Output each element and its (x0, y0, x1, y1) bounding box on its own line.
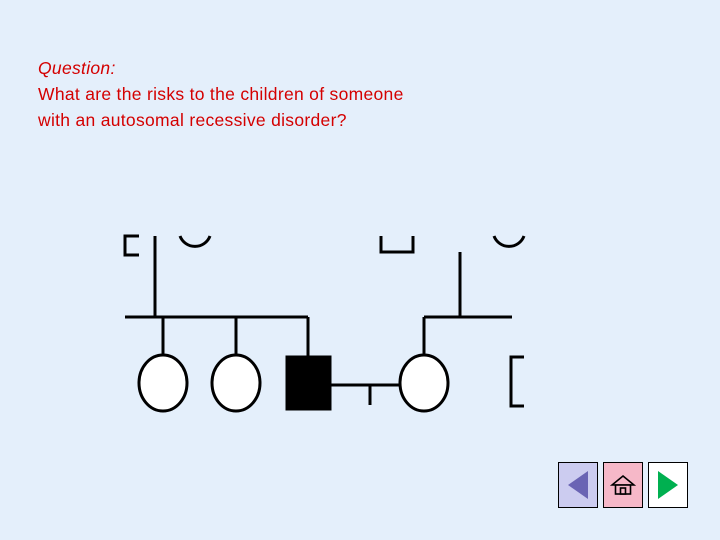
home-icon (610, 472, 636, 498)
previous-slide-button[interactable] (558, 462, 598, 508)
question-text-line-2: with an autosomal recessive disorder? (38, 107, 638, 133)
generation-1-group (125, 236, 524, 255)
square-partial-bottom-right (511, 357, 524, 406)
square-partial-top-right (381, 236, 413, 252)
question-label: Question: (38, 55, 638, 81)
circle-partial-top-left (180, 236, 210, 246)
pedigree-lines (125, 236, 512, 405)
circle-child-3 (400, 355, 448, 411)
circle-child-1 (139, 355, 187, 411)
right-triangle-icon (658, 471, 678, 499)
square-partial-top-left (125, 236, 139, 255)
question-block: Question: What are the risks to the chil… (38, 55, 638, 133)
home-button[interactable] (603, 462, 643, 508)
circle-partial-top-right (494, 236, 524, 246)
next-slide-button[interactable] (648, 462, 688, 508)
left-triangle-icon (568, 471, 588, 499)
question-text-line-1: What are the risks to the children of so… (38, 81, 638, 107)
square-child-affected (287, 357, 330, 409)
slide-canvas: Question: What are the risks to the chil… (0, 0, 720, 540)
navigation-bar (558, 462, 688, 510)
circle-child-2 (212, 355, 260, 411)
generation-2-group (139, 355, 524, 411)
